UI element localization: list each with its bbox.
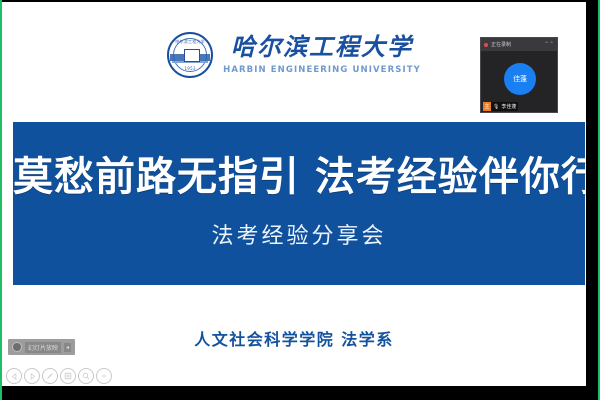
avatar: 佳蓬 xyxy=(504,63,536,95)
next-slide-button[interactable] xyxy=(24,368,40,384)
video-panel-title: 正在录制 xyxy=(491,41,541,48)
record-dot-icon xyxy=(484,43,488,47)
host-badge: 主 xyxy=(483,102,491,111)
capture-edge-marker-left xyxy=(0,0,2,400)
chevron-double-up-icon[interactable]: ⌃⌃ xyxy=(544,42,554,48)
university-name-block: 哈尔滨工程大学 HARBIN ENGINEERING UNIVERSITY xyxy=(223,35,421,74)
university-name-cn: 哈尔滨工程大学 xyxy=(231,35,413,60)
university-name-en: HARBIN ENGINEERING UNIVERSITY xyxy=(223,65,421,75)
title-banner: 莫愁前路无指引 法考经验伴你行 法考经验分享会 xyxy=(13,122,585,285)
meeting-video-panel[interactable]: 正在录制 ⌃⌃ 佳蓬 主 🎙 李佳蓬 xyxy=(480,37,558,113)
participant-name: 李佳蓬 xyxy=(501,103,516,110)
seal-year: 1953 xyxy=(169,66,211,71)
presentation-screen: 哈尔滨工程大学 1953 哈尔滨工程大学 HARBIN ENGINEERING … xyxy=(0,0,600,400)
pointer-icon xyxy=(12,342,22,352)
presenter-tooltip[interactable]: 幻灯片放映 ◂ xyxy=(8,339,75,355)
zoom-button[interactable] xyxy=(78,368,94,384)
microphone-icon: 🎙 xyxy=(493,104,499,110)
slide-department-line: 人文社会科学学院 法学系 xyxy=(2,326,586,350)
university-seal-icon: 哈尔滨工程大学 1953 xyxy=(167,32,213,78)
presenter-tooltip-label: 幻灯片放映 xyxy=(25,342,61,353)
participant-name-tag: 主 🎙 李佳蓬 xyxy=(483,102,518,111)
video-panel-header[interactable]: 正在录制 ⌃⌃ xyxy=(481,38,557,51)
chevron-left-icon[interactable]: ◂ xyxy=(64,343,71,352)
pen-tool-button[interactable] xyxy=(42,368,58,384)
seal-motif-icon xyxy=(184,49,200,62)
slide-sub-title: 法考经验分享会 xyxy=(13,218,585,250)
all-slides-button[interactable] xyxy=(60,368,76,384)
previous-slide-button[interactable] xyxy=(6,368,22,384)
letterbox-bottom xyxy=(0,386,600,400)
slide-main-title: 莫愁前路无指引 法考经验伴你行 xyxy=(13,144,585,202)
seal-top-text: 哈尔滨工程大学 xyxy=(169,39,211,45)
presenter-control-bar[interactable] xyxy=(6,368,112,384)
slide-canvas[interactable]: 哈尔滨工程大学 1953 哈尔滨工程大学 HARBIN ENGINEERING … xyxy=(2,2,586,386)
video-stage[interactable]: 佳蓬 主 🎙 李佳蓬 xyxy=(481,51,557,113)
more-options-button[interactable] xyxy=(96,368,112,384)
